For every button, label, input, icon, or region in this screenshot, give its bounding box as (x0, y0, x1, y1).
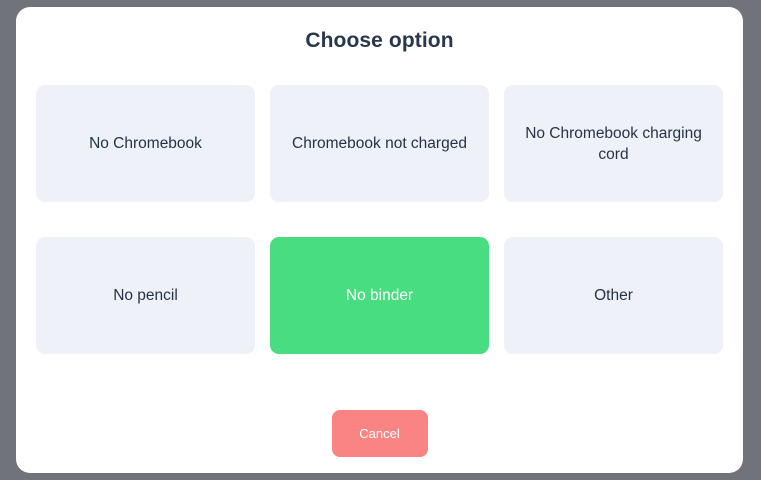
dialog-title: Choose option (16, 7, 743, 54)
option-label: No binder (346, 285, 413, 306)
option-label: No Chromebook (89, 133, 202, 154)
option-card-no-binder[interactable]: No binder (270, 237, 489, 354)
option-label: Chromebook not charged (292, 133, 467, 154)
screen-backdrop: Choose option No Chromebook Chromebook n… (0, 0, 761, 480)
options-grid: No Chromebook Chromebook not charged No … (36, 85, 723, 354)
option-card-no-pencil[interactable]: No pencil (36, 237, 255, 354)
option-label: No Chromebook charging cord (518, 123, 709, 165)
option-card-chromebook-not-charged[interactable]: Chromebook not charged (270, 85, 489, 202)
option-label: Other (594, 285, 633, 306)
option-label: No pencil (113, 285, 178, 306)
cancel-button[interactable]: Cancel (332, 410, 428, 457)
choose-option-dialog: Choose option No Chromebook Chromebook n… (16, 7, 743, 473)
option-card-other[interactable]: Other (504, 237, 723, 354)
option-card-no-chromebook[interactable]: No Chromebook (36, 85, 255, 202)
option-card-no-chromebook-charging-cord[interactable]: No Chromebook charging cord (504, 85, 723, 202)
dialog-footer: Cancel (16, 410, 743, 457)
